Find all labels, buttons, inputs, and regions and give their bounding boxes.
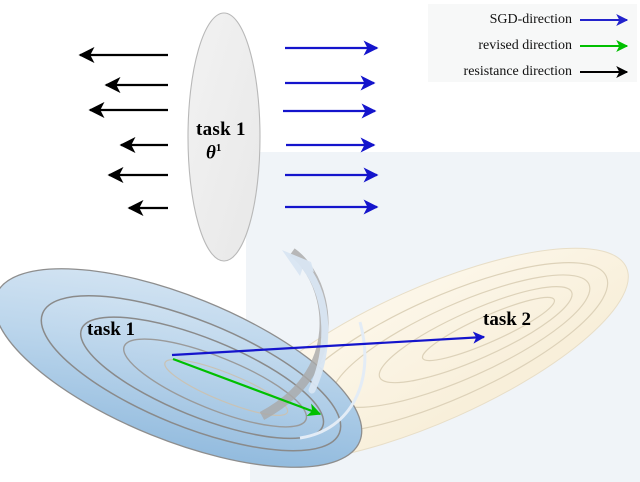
task1-theta-ellipse-label: task 1 — [196, 120, 246, 139]
legend-label-revised-direction: revised direction — [438, 39, 572, 53]
task1-contour-label: task 1 — [87, 320, 135, 339]
resistance-arrows — [80, 55, 168, 208]
legend-label-resistance-direction: resistance direction — [428, 65, 572, 79]
figure-canvas: task 1 θ1 task 1 task 2 SGD-direction re… — [0, 0, 640, 482]
theta-symbol: θ — [206, 142, 216, 163]
task2-contour-label: task 2 — [483, 310, 531, 329]
theta-superscript: 1 — [216, 142, 222, 154]
task1-theta-parameter-label: θ1 — [206, 143, 221, 162]
panel-background-white-mid — [0, 420, 120, 482]
legend-label-sgd-direction: SGD-direction — [438, 13, 572, 27]
